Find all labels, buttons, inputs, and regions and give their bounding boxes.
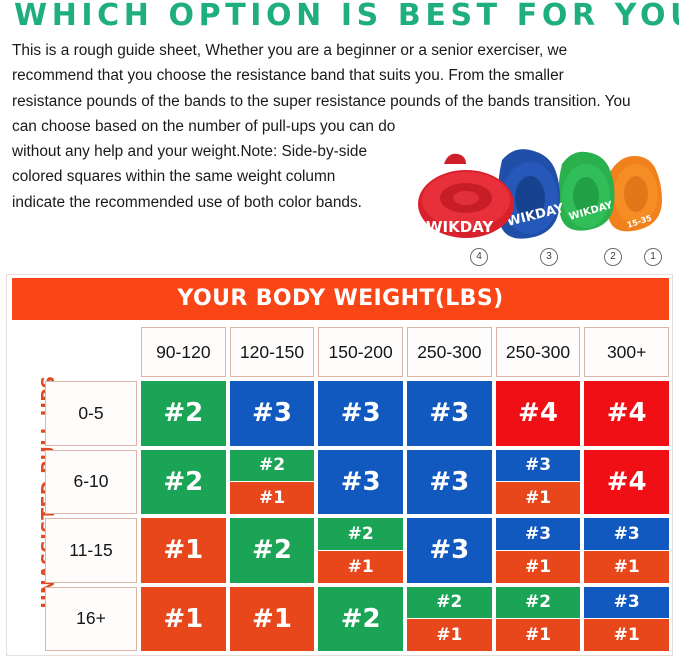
band-label-n3: #3 [407,450,492,515]
band-cell-r4-c2: #1 [230,587,315,652]
band-cell-r2-c6: #4 [584,450,669,515]
recommendation-chart: YOUR BODY WEIGHT(LBS) UNASSISTED PULL UP… [6,274,673,656]
band-label-n3: #3 [407,518,492,583]
band-label-n1: #1 [141,587,226,652]
band-label-n1: #1 [141,518,226,583]
band-cell-r3-c6: #3#1 [584,518,669,583]
band-cell-r4-c3: #2 [318,587,403,652]
row-header-3: 11-15 [45,518,137,583]
band-cell-r1-c4: #3 [407,381,492,446]
chart-grid: 90-120120-150150-200250-300250-300300+0-… [45,327,669,651]
band-label-n1: #1 [230,482,315,514]
band-cell-r3-c2: #2 [230,518,315,583]
band-label-n2: #2 [318,518,403,551]
band-label-n1: #1 [496,551,581,583]
band-label-n3: #3 [407,381,492,446]
band-label-n1: #1 [318,551,403,583]
resistance-bands-photo: 15-35 WIKDAY WIKDAY WIKDAY [404,148,676,244]
band-index-1: 1 [644,248,662,266]
band-label-n3: #3 [318,381,403,446]
column-header-3: 150-200 [318,327,403,377]
band-label-n1: #1 [407,619,492,651]
band-cell-r2-c1: #2 [141,450,226,515]
chart-grid-corner [45,327,137,377]
band-index-4: 4 [470,248,488,266]
band-label-n1: #1 [584,551,669,583]
band-label-n3: #3 [496,518,581,551]
column-header-1: 90-120 [141,327,226,377]
band-cell-r1-c1: #2 [141,381,226,446]
band-label-n1: #1 [584,619,669,651]
band-label-n4: #4 [584,381,669,446]
band-cell-r4-c5: #2#1 [496,587,581,652]
band-label-n2: #2 [230,518,315,583]
band-cell-r1-c2: #3 [230,381,315,446]
band-label-n2: #2 [496,587,581,620]
column-header-4: 250-300 [407,327,492,377]
row-header-2: 6-10 [45,450,137,515]
band-label-n3: #3 [230,381,315,446]
band-cell-r1-c3: #3 [318,381,403,446]
green-band-shape: WIKDAY [558,152,614,231]
band-cell-r3-c4: #3 [407,518,492,583]
band-label-n3: #3 [496,450,581,483]
svg-text:WIKDAY: WIKDAY [426,218,494,236]
chart-header-banner: YOUR BODY WEIGHT(LBS) [12,278,669,320]
row-header-4: 16+ [45,587,137,652]
band-index-2: 2 [604,248,622,266]
orange-band-shape: 15-35 [606,156,662,231]
row-header-1: 0-5 [45,381,137,446]
column-header-6: 300+ [584,327,669,377]
band-cell-r4-c4: #2#1 [407,587,492,652]
band-cell-r1-c5: #4 [496,381,581,446]
band-cell-r3-c3: #2#1 [318,518,403,583]
band-cell-r2-c5: #3#1 [496,450,581,515]
band-label-n2: #2 [141,381,226,446]
band-label-n1: #1 [496,619,581,651]
column-header-5: 250-300 [496,327,581,377]
band-cell-r3-c5: #3#1 [496,518,581,583]
band-label-n2: #2 [318,587,403,652]
page-title: WHICH OPTION IS BEST FOR YOU ? [14,0,669,34]
band-label-n1: #1 [230,587,315,652]
intro-text-main: This is a rough guide sheet, Whether you… [12,42,631,135]
column-header-2: 120-150 [230,327,315,377]
band-label-n1: #1 [496,482,581,514]
band-label-n2: #2 [141,450,226,515]
band-cell-r4-c6: #3#1 [584,587,669,652]
band-label-n4: #4 [584,450,669,515]
band-label-n2: #2 [230,450,315,483]
bands-illustration: 15-35 WIKDAY WIKDAY WIKDAY [404,148,676,244]
band-cell-r2-c3: #3 [318,450,403,515]
band-cell-r2-c2: #2#1 [230,450,315,515]
red-band-shape: WIKDAY [418,154,514,238]
band-cell-r3-c1: #1 [141,518,226,583]
band-cell-r1-c6: #4 [584,381,669,446]
band-cell-r4-c1: #1 [141,587,226,652]
band-label-n3: #3 [584,587,669,620]
band-label-n3: #3 [318,450,403,515]
band-label-n2: #2 [407,587,492,620]
band-label-n3: #3 [584,518,669,551]
chart-side-label: UNASSISTED PULL UPS [15,329,45,651]
band-cell-r2-c4: #3 [407,450,492,515]
band-index-row: 4 3 2 1 [404,248,676,268]
band-index-3: 3 [540,248,558,266]
band-label-n4: #4 [496,381,581,446]
